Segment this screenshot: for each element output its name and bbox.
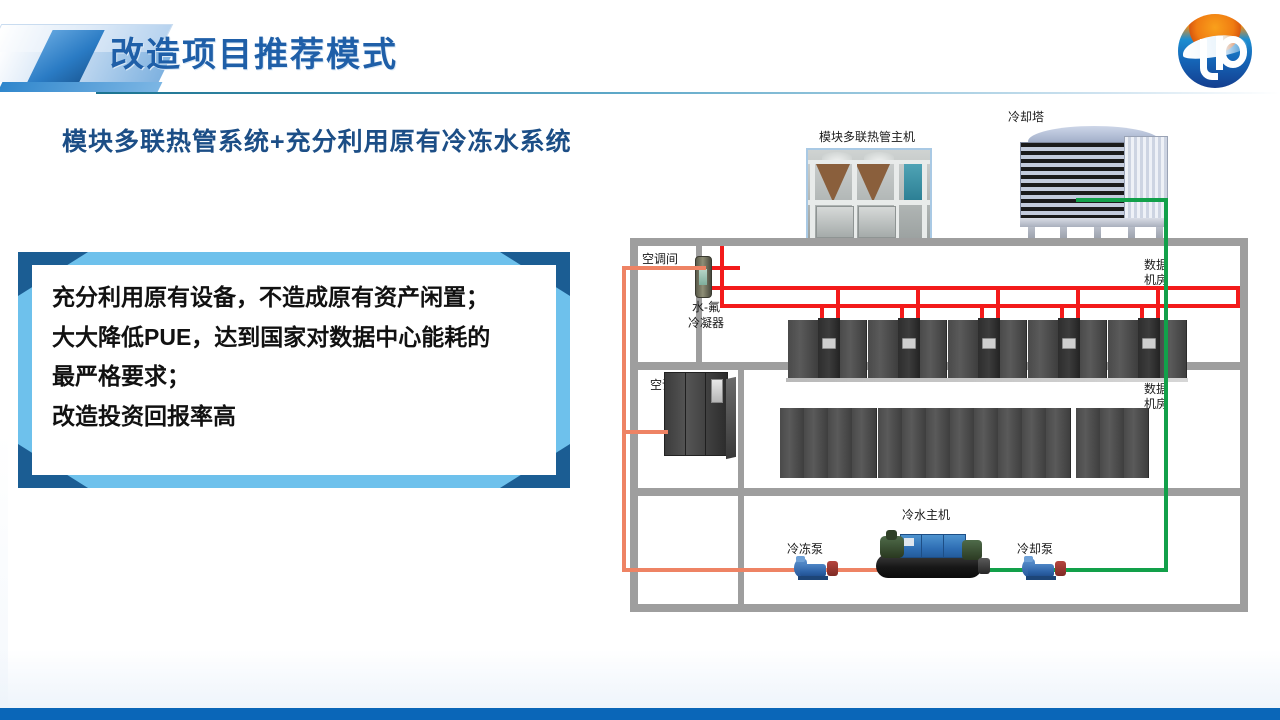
pump-base [1026,576,1056,580]
partition-mid-floor [738,362,744,488]
callout-text-block: 充分利用原有设备，不造成原有资产闲置； 大大降低PUE，达到国家对数据中心能耗的… [52,278,554,436]
callout-box: 充分利用原有设备，不造成原有资产闲置； 大大降低PUE，达到国家对数据中心能耗的… [18,252,570,488]
cooling-tower-base [1020,218,1168,227]
pipe-red-riser [720,238,724,308]
footer-bar [0,708,1280,720]
cooling-water-pump [1022,556,1066,582]
pipe-condenser-riser [1164,198,1168,572]
header-underline [96,92,1280,94]
chiller-nameplate [904,538,914,546]
heat-pipe-main-unit-photo [806,148,932,244]
footer-glow [0,650,1280,708]
heat-pipe-access-door [816,206,854,238]
heat-pipe-frame-rail [808,160,930,164]
pipe-condenser-to-tower [1076,198,1168,202]
pipe-chilled-to-condenser [622,266,706,270]
building-wall-top [630,238,1248,246]
pump-flange [796,556,805,562]
water-fluorine-condenser [695,256,712,298]
condenser-sight-glass [699,269,707,285]
building-wall-bottom [630,604,1248,612]
crac-control-panel [711,379,723,403]
pipe-condenser-supply [978,568,1168,572]
building-wall-right [1240,238,1248,612]
heat-pipe-access-door [858,206,896,238]
system-schematic-diagram: 冷却塔 模块多联热管主机 [608,100,1268,620]
crac-unit [664,372,728,456]
chiller-compressor-head [886,530,897,540]
heat-pipe-frame-rail [808,200,930,205]
water-chiller-unit [872,528,990,582]
slide-header: 改造项目推荐模式 [0,0,1280,96]
jp-logo [1178,14,1252,88]
heat-pipe-coil [816,164,850,202]
building-floor-divider-2 [630,488,1248,496]
logo-letter-p-bowl [1219,36,1248,68]
label-ac-room-top: 空调间 [642,252,678,267]
pump-end-cap [1055,561,1066,576]
partition-bottom-floor [738,488,744,612]
slide-root: 改造项目推荐模式 模块多联热管系统+充分利用原有冷冻水系统 充分利用原有设备，不… [0,0,1280,720]
crac-side-face [726,377,736,459]
section-subtitle: 模块多联热管系统+充分利用原有冷冻水系统 [62,122,572,158]
pipe-chilled-supply [622,568,880,572]
heat-pipe-coil [856,164,890,202]
label-cooling-tower: 冷却塔 [986,110,1066,126]
cooling-tower-side-panel [1124,136,1168,222]
label-chiller: 冷水主机 [876,508,976,524]
chilled-water-pump [794,556,838,582]
label-heat-pipe-main-unit: 模块多联热管主机 [800,130,934,146]
rack-floor-shadow [786,378,1188,382]
chiller-end-cap [978,558,990,574]
cooling-tower-unit [1020,126,1168,234]
header-parallelogram-bar [0,82,162,92]
building-wall-left [630,238,638,612]
pump-end-cap [827,561,838,576]
pipe-chilled-to-crac [622,430,668,434]
left-edge-rail [0,0,8,720]
label-water-fluorine-condenser: 水-氟 冷凝器 [670,300,742,331]
pipe-chilled-riser [622,266,626,572]
pump-base [798,576,828,580]
heat-pipe-frame-post [810,160,815,240]
cooling-tower-louvers [1020,142,1126,222]
pump-flange [1024,556,1033,562]
callout-line-3: 最严格要求； [52,357,554,397]
callout-line-2: 大大降低PUE，达到国家对数据中心能耗的 [52,318,554,358]
chiller-aux-motor [962,540,982,560]
callout-line-4: 改造投资回报率高 [52,397,554,437]
callout-line-1: 充分利用原有设备，不造成原有资产闲置； [52,278,554,318]
page-title: 改造项目推荐模式 [110,27,398,76]
heat-pipe-frame-post [922,160,927,240]
